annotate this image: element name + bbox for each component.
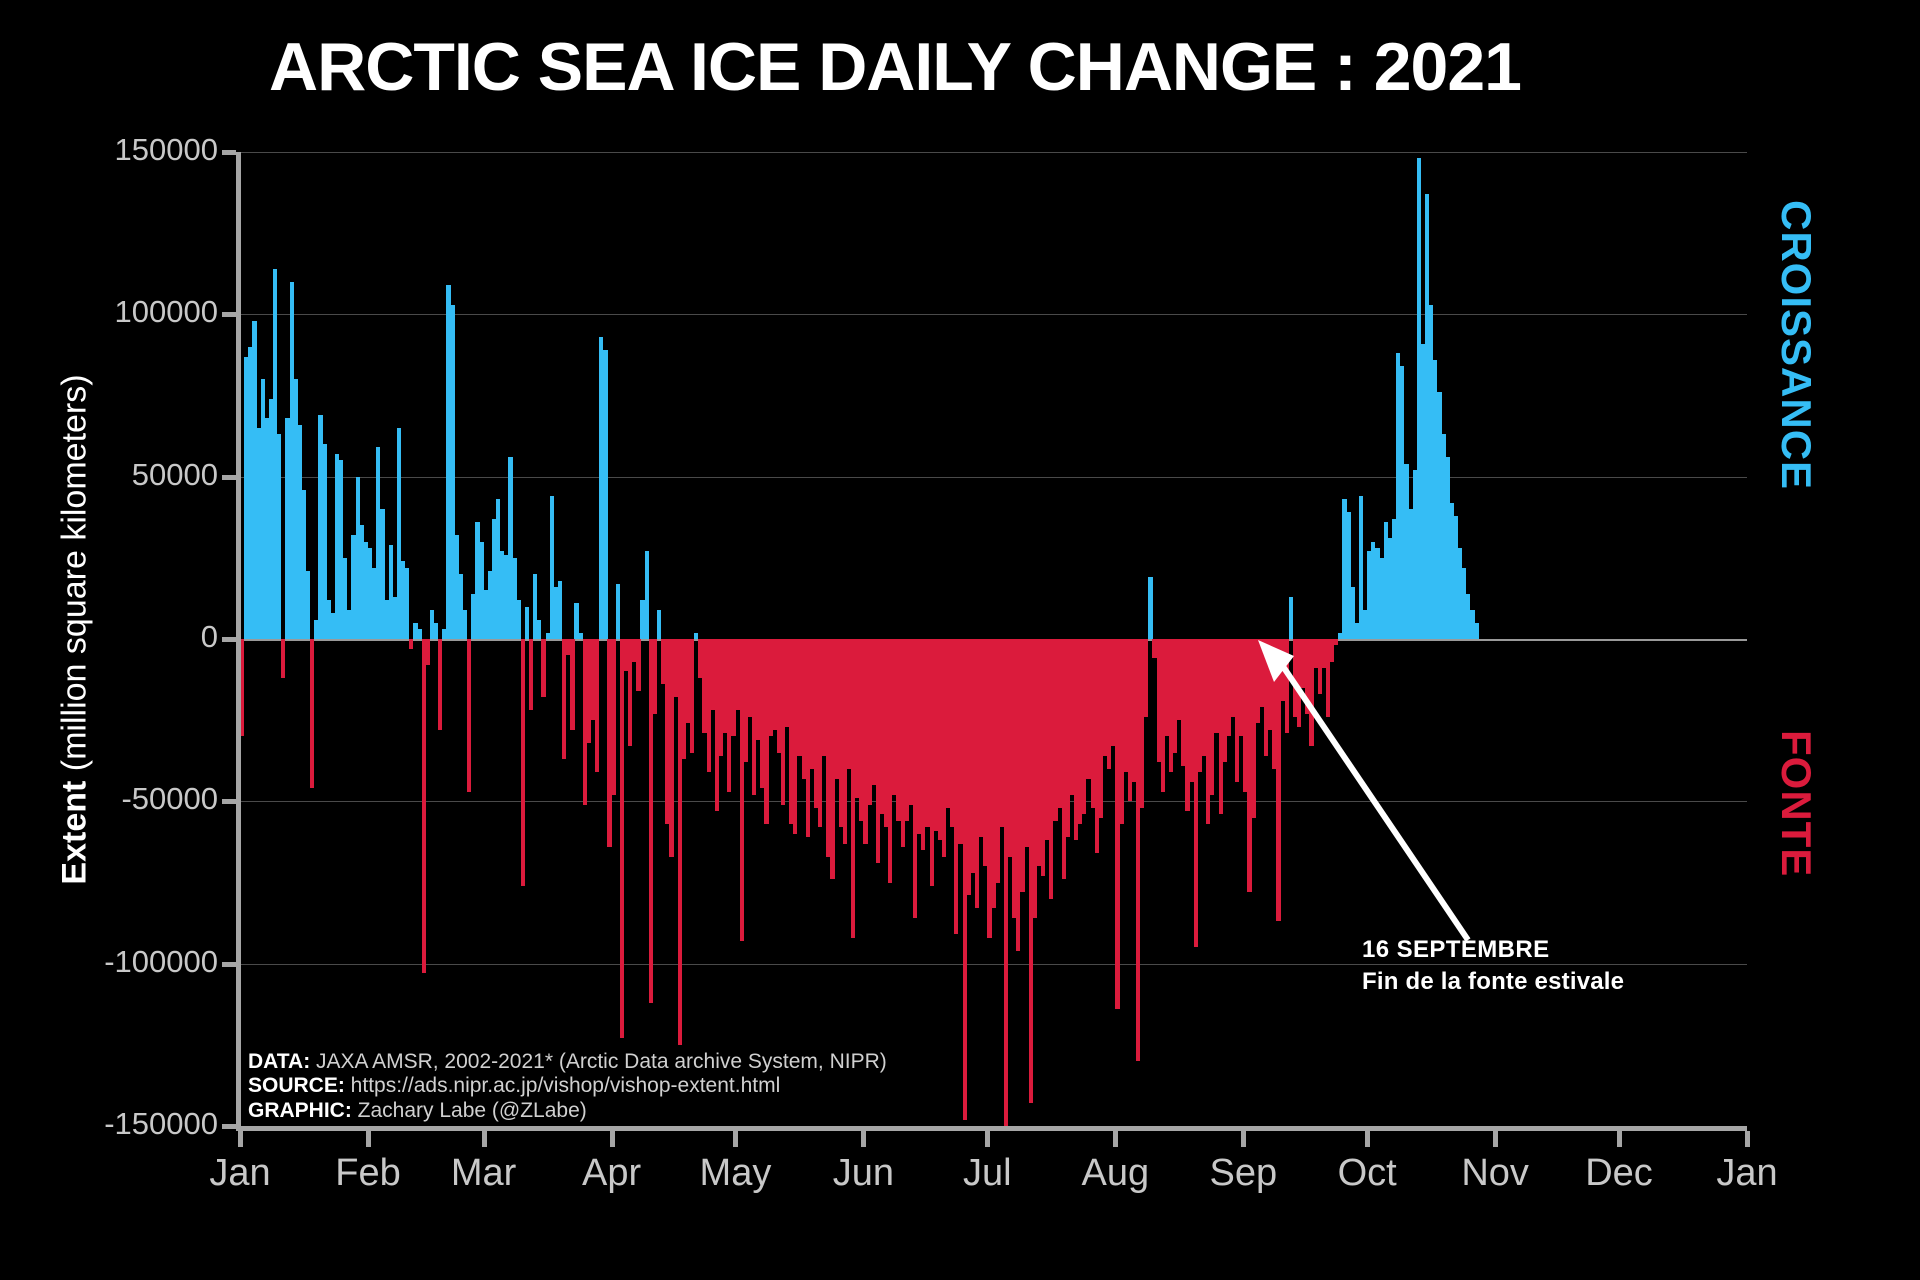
bar [467,639,471,792]
y-tick-label: 50000 [132,457,218,493]
credits-source-value: https://ads.nipr.ac.jp/vishop/vishop-ext… [345,1074,780,1097]
bar [636,639,640,691]
x-axis-line [236,1126,1747,1131]
y-tick-mark [222,799,236,804]
x-tick-mark [1617,1131,1622,1147]
y-axis-title-rest: (million square kilometers) [56,374,94,780]
bar [562,639,566,759]
y-tick-mark [222,150,236,155]
credits-data-line: DATA: JAXA AMSR, 2002-2021* (Arctic Data… [248,1050,887,1074]
bar [277,434,281,639]
y-tick-mark [222,1124,236,1129]
bar [438,639,442,730]
annotation-label: 16 SEPTEMBRE Fin de la fonte estivale [1362,936,1692,996]
y-axis-title-strong: Extent [56,781,94,885]
credits-data-value: JAXA AMSR, 2002-2021* (Arctic Data archi… [310,1050,887,1073]
bar [409,639,413,649]
x-tick-label: Jan [209,1152,270,1195]
y-tick-label: -150000 [104,1106,218,1142]
x-tick-mark [733,1131,738,1147]
bar [694,633,698,639]
credits-graphic-key: GRAPHIC: [248,1099,352,1122]
bar [595,639,599,772]
x-tick-mark [1365,1131,1370,1147]
bar [463,610,467,639]
x-tick-label: Aug [1081,1152,1149,1195]
bar [418,629,422,639]
bar [1334,639,1338,645]
bar [570,639,574,730]
bar [426,639,430,665]
credits-block: DATA: JAXA AMSR, 2002-2021* (Arctic Data… [248,1050,887,1123]
bar [579,633,583,639]
bar [525,607,529,639]
page-title: ARCTIC SEA ICE DAILY CHANGE : 2021 [0,28,1790,106]
bar [1285,639,1289,733]
x-tick-mark [238,1131,243,1147]
bar [558,581,562,639]
y-tick-label: -100000 [104,944,218,980]
bar [616,584,620,639]
y-tick-label: 150000 [115,132,218,168]
bar [1289,597,1293,639]
x-tick-label: Sep [1209,1152,1277,1195]
x-tick-label: Jan [1716,1152,1777,1195]
x-tick-mark [1113,1131,1118,1147]
credits-source-line: SOURCE: https://ads.nipr.ac.jp/vishop/vi… [248,1074,887,1098]
bar [541,639,545,697]
credits-data-key: DATA: [248,1050,310,1073]
bar [434,623,438,639]
x-tick-label: Jun [833,1152,894,1195]
credits-graphic-line: GRAPHIC: Zachary Labe (@ZLabe) [248,1099,887,1123]
bar [657,610,661,639]
bar [306,571,310,639]
y-tick-label: -50000 [121,781,218,817]
bar [645,551,649,639]
growth-side-label: CROISSANCE [1772,200,1820,490]
bar [603,350,607,639]
bar [310,639,314,788]
bar [521,639,525,886]
bar [653,639,657,714]
bar [281,639,285,678]
bar [1144,639,1148,717]
y-tick-mark [222,962,236,967]
melt-side-label: FONTE [1772,730,1820,877]
bar [690,639,694,753]
x-tick-label: Mar [451,1152,516,1195]
x-tick-mark [1493,1131,1498,1147]
x-tick-label: Dec [1585,1152,1653,1195]
bar [537,620,541,639]
bar [1148,577,1152,639]
bar [517,600,521,639]
x-tick-label: Jul [963,1152,1012,1195]
annotation-title: 16 SEPTEMBRE [1362,936,1692,964]
x-tick-mark [1745,1131,1750,1147]
x-tick-label: Oct [1338,1152,1397,1195]
x-tick-label: Apr [582,1152,641,1195]
x-tick-mark [861,1131,866,1147]
y-tick-mark [222,312,236,317]
bar [422,639,426,973]
x-tick-label: May [700,1152,772,1195]
x-tick-mark [985,1131,990,1147]
y-tick-mark [222,637,236,642]
bar [529,639,533,710]
bar [612,639,616,795]
credits-source-key: SOURCE: [248,1074,345,1097]
bar [1475,623,1479,639]
bar [405,568,409,639]
x-tick-label: Nov [1461,1152,1529,1195]
x-tick-mark [610,1131,615,1147]
y-tick-label: 0 [201,619,218,655]
y-axis-title: Extent (million square kilometers) [56,215,95,1045]
y-tick-label: 100000 [115,294,218,330]
x-tick-mark [366,1131,371,1147]
bar [620,639,624,1038]
credits-graphic-value: Zachary Labe (@ZLabe) [352,1099,587,1122]
y-axis-line [236,152,241,1126]
x-tick-label: Feb [335,1152,400,1195]
x-tick-mark [482,1131,487,1147]
y-tick-mark [222,475,236,480]
x-tick-mark [1241,1131,1246,1147]
annotation-subtitle: Fin de la fonte estivale [1362,968,1692,996]
